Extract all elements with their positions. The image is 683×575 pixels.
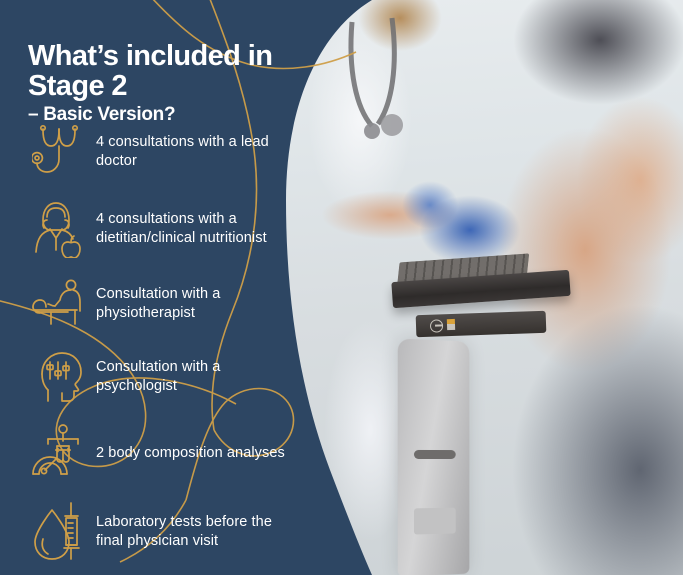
massage-therapy-icon bbox=[28, 270, 90, 338]
panel-content: What’s included in Stage 2 – Basic Versi… bbox=[0, 0, 300, 575]
list-item-label: Consultation with a psychologist bbox=[90, 358, 296, 396]
stethoscope-icon bbox=[28, 118, 90, 186]
list-item: Consultation with a physiotherapist bbox=[28, 270, 296, 338]
list-item-label: 4 consultations with a lead doctor bbox=[90, 133, 296, 171]
list-item-label: Consultation with a physiotherapist bbox=[90, 285, 296, 323]
dietitian-apple-icon bbox=[28, 195, 90, 263]
blood-drop-syringe-icon bbox=[28, 498, 90, 566]
promo-card: What’s included in Stage 2 – Basic Versi… bbox=[0, 0, 683, 575]
list-item-label: 4 consultations with a dietitian/clinica… bbox=[90, 210, 296, 248]
list-item: 4 consultations with a lead doctor bbox=[28, 116, 296, 188]
list-item: Consultation with a psychologist bbox=[28, 342, 296, 412]
list-item-label: 2 body composition analyses bbox=[90, 444, 285, 463]
title-line-1: What’s included bbox=[28, 40, 240, 72]
list-item: 2 body composition analyses bbox=[28, 416, 296, 490]
head-sliders-icon bbox=[28, 343, 90, 411]
list-item: 4 consultations with a dietitian/clinica… bbox=[28, 192, 296, 266]
page-title: What’s included in Stage 2 – Basic Versi… bbox=[28, 41, 290, 127]
body-composition-icon bbox=[28, 419, 90, 487]
list-item: Laboratory tests before the final physic… bbox=[28, 494, 296, 570]
benefits-list: 4 consultations with a lead doctor bbox=[28, 116, 296, 574]
list-item-label: Laboratory tests before the final physic… bbox=[90, 513, 296, 551]
